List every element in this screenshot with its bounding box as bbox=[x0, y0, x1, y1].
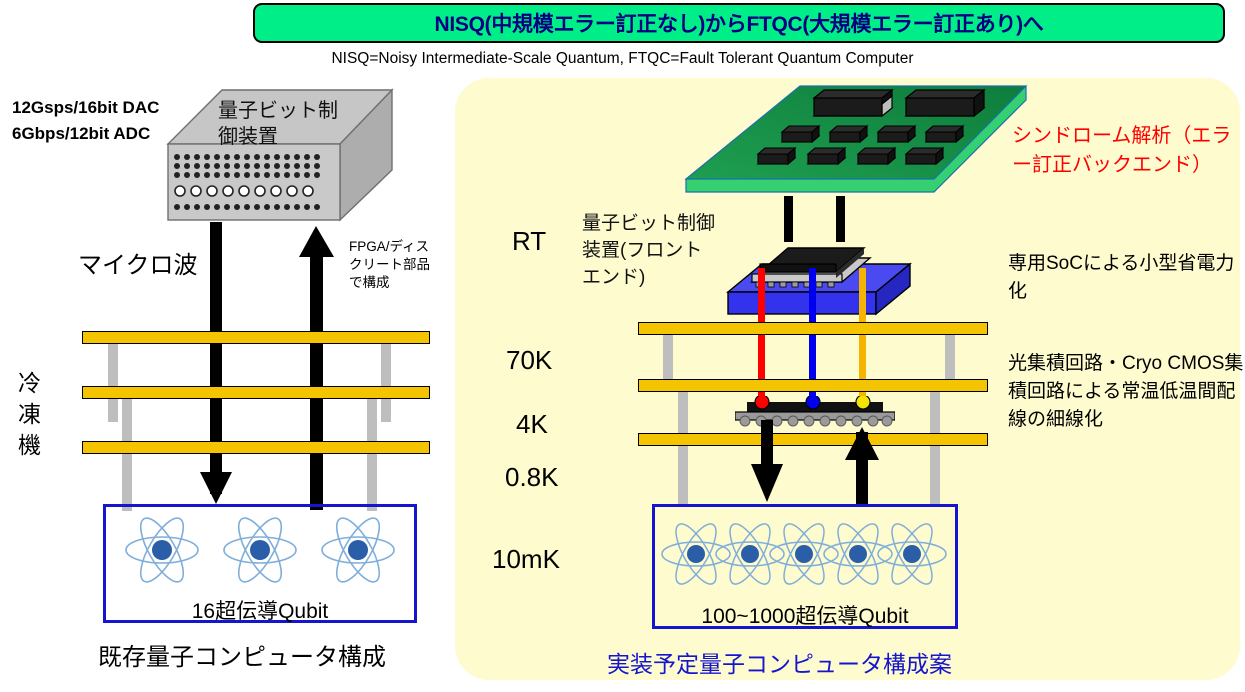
left-down-arrow-head bbox=[198, 470, 234, 506]
right-qubit-box-label: 100~1000超伝導Qubit bbox=[652, 600, 958, 630]
control-unit-label-line1: 量子ビット制 bbox=[218, 98, 378, 124]
right-plate-70k bbox=[638, 322, 988, 335]
temp-label-rt: RT bbox=[512, 226, 546, 257]
microwave-label: マイクロ波 bbox=[78, 245, 198, 280]
right-pillar-3a bbox=[678, 440, 688, 506]
left-plate-mid bbox=[82, 386, 430, 399]
spec-line-1: 12Gsps/16bit DAC bbox=[12, 95, 159, 121]
left-up-arrow-head bbox=[298, 225, 335, 259]
refrigerator-label: 冷凍機 bbox=[18, 368, 44, 461]
right-caption: 実装予定量子コンピュータ構成案 bbox=[607, 645, 952, 679]
cable-red bbox=[758, 268, 765, 415]
frontend-device-label: 量子ビット制御装置(フロントエンド) bbox=[582, 210, 720, 291]
right-plate-4k bbox=[638, 379, 988, 392]
temp-label-10mk: 10mK bbox=[492, 544, 560, 575]
syndrome-note: シンドローム解析（エラー訂正バックエンド） bbox=[1012, 122, 1242, 180]
left-plate-top bbox=[82, 331, 430, 344]
left-pillar-1a bbox=[108, 340, 118, 422]
right-pillar-3b bbox=[930, 440, 940, 506]
control-unit-label: 量子ビット制 御装置 bbox=[218, 98, 378, 150]
fpga-note: FPGA/ディスクリート部品で構成 bbox=[349, 238, 431, 292]
cable-yellow bbox=[859, 268, 866, 415]
left-qubit-box-label: 16超伝導Qubit bbox=[103, 595, 417, 625]
right-down-arrow-head bbox=[749, 462, 785, 504]
title-text: NISQ(中規模エラー訂正なし)からFTQC(大規模エラー訂正あり)へ bbox=[435, 8, 1044, 38]
temp-label-70k: 70K bbox=[506, 345, 552, 376]
right-up-arrow-head bbox=[843, 426, 881, 462]
spec-line-2: 6Gbps/12bit ADC bbox=[12, 121, 159, 147]
right-pillar-1b bbox=[945, 331, 955, 383]
left-caption: 既存量子コンピュータ構成 bbox=[98, 637, 386, 672]
dac-adc-spec: 12Gsps/16bit DAC 6Gbps/12bit ADC bbox=[12, 95, 159, 147]
subtitle-text: NISQ=Noisy Intermediate-Scale Quantum, F… bbox=[0, 50, 1245, 68]
cryo-note: 光集積回路・Cryo CMOS集積回路による常温低温間配線の細線化 bbox=[1008, 350, 1244, 434]
frontend-board bbox=[724, 230, 914, 326]
left-plate-bot bbox=[82, 441, 430, 454]
soc-note: 専用SoCによる小型省電力化 bbox=[1008, 250, 1244, 306]
right-plate-08k bbox=[638, 433, 988, 446]
right-qubit-atoms bbox=[656, 512, 954, 598]
right-pillar-1a bbox=[663, 331, 673, 383]
left-uplink-wire bbox=[310, 252, 323, 510]
left-pillar-1b bbox=[381, 340, 391, 422]
control-unit-label-line2: 御装置 bbox=[218, 124, 378, 150]
syndrome-pcb bbox=[684, 82, 1028, 210]
control-unit-vent-dots bbox=[172, 152, 322, 216]
title-banner: NISQ(中規模エラー訂正なし)からFTQC(大規模エラー訂正あり)へ bbox=[253, 3, 1225, 43]
cable-blue bbox=[809, 268, 816, 415]
temp-label-4k: 4K bbox=[516, 409, 548, 440]
temp-label-08k: 0.8K bbox=[505, 462, 559, 493]
cryo-cmos-chip bbox=[735, 396, 895, 430]
left-qubit-atoms bbox=[112, 512, 408, 592]
